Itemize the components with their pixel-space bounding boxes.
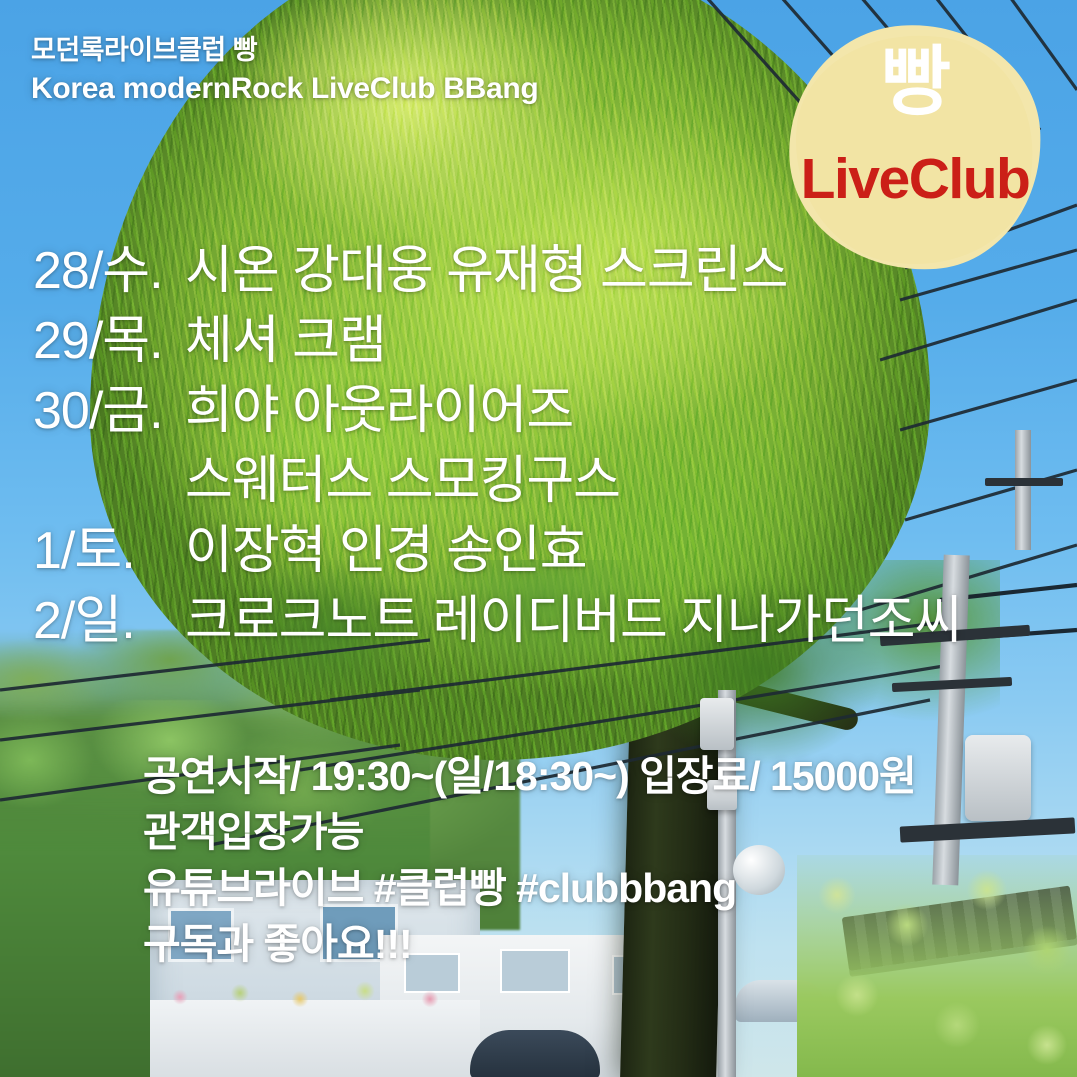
poster-canvas: 모던록라이브클럽 빵 Korea modernRock LiveClub BBa… <box>0 0 1077 1077</box>
schedule-date: 1/토. <box>33 508 185 583</box>
schedule-date: 28/수. <box>33 228 185 303</box>
info-subscribe-call: 구독과 좋아요!!! <box>143 916 916 972</box>
badge-liveclub-text: LiveClub <box>789 151 1041 208</box>
info-admission: 관객입장가능 <box>143 804 916 860</box>
schedule-row: 30/금. 희야 아웃라이어즈 <box>33 368 961 438</box>
text-overlay: 모던록라이브클럽 빵 Korea modernRock LiveClub BBa… <box>0 0 1077 1077</box>
header-english-title: Korea modernRock LiveClub BBang <box>31 69 538 109</box>
schedule-acts: 시온 강대웅 유재형 스크린스 <box>185 228 787 303</box>
schedule-date: 30/금. <box>33 368 185 443</box>
schedule-row: 2/일. 크로크노트 레이디버드 지나가던조씨 <box>33 578 961 648</box>
schedule-date: 2/일. <box>33 578 185 653</box>
schedule-row-continuation: 스웨터스 스모킹구스 <box>33 438 961 508</box>
info-showtime-price: 공연시작/ 19:30~(일/18:30~) 입장료/ 15000원 <box>143 748 916 804</box>
badge-hangul-logo: 빵 <box>789 45 1041 121</box>
poster-header: 모던록라이브클럽 빵 Korea modernRock LiveClub BBa… <box>31 33 538 108</box>
info-block: 공연시작/ 19:30~(일/18:30~) 입장료/ 15000원 관객입장가… <box>143 748 916 973</box>
schedule-acts: 이장혁 인경 송인효 <box>185 508 587 583</box>
header-korean-title: 모던록라이브클럽 빵 <box>31 33 538 69</box>
schedule-acts: 희야 아웃라이어즈 <box>185 368 573 443</box>
info-youtube-hashtags: 유튜브라이브 #클럽빵 #clubbbang <box>143 860 916 916</box>
schedule-row: 28/수. 시온 강대웅 유재형 스크린스 <box>33 228 961 298</box>
schedule-date: 29/목. <box>33 298 185 373</box>
schedule-row: 1/토. 이장혁 인경 송인효 <box>33 508 961 578</box>
schedule-acts: 크로크노트 레이디버드 지나가던조씨 <box>185 578 961 653</box>
schedule-acts: 체셔 크램 <box>185 298 386 373</box>
schedule-acts-continued: 스웨터스 스모킹구스 <box>185 438 620 513</box>
schedule-list: 28/수. 시온 강대웅 유재형 스크린스 29/목. 체셔 크램 30/금. … <box>33 228 961 648</box>
schedule-row: 29/목. 체셔 크램 <box>33 298 961 368</box>
